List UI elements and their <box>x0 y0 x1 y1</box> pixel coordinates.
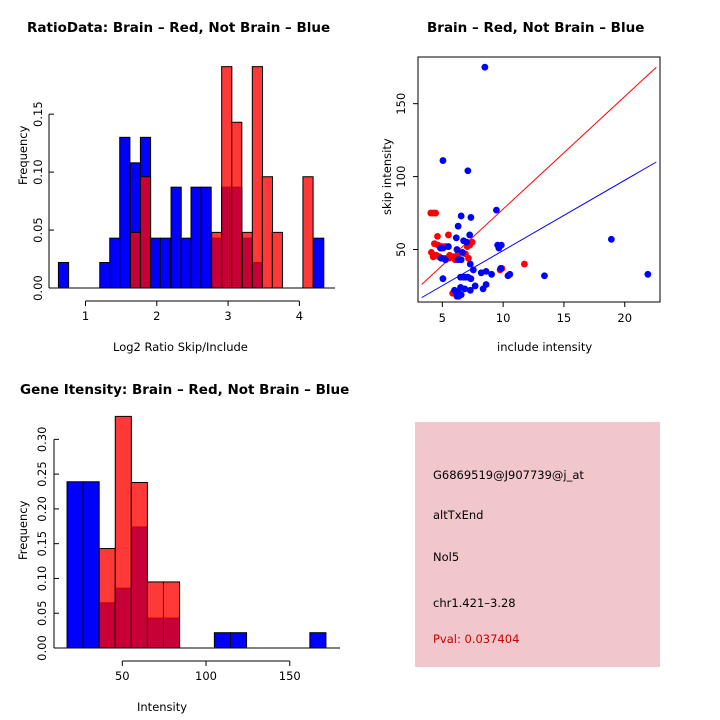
histogram-bar <box>67 482 83 648</box>
histogram-bar <box>120 137 130 288</box>
panel-gene-intensity-histogram: Gene Itensity: Brain – Red, Not Brain – … <box>0 360 360 720</box>
scatter-content <box>422 64 657 300</box>
probe-id-text: G6869519@J907739@j_at <box>433 468 584 482</box>
gene-y-tick-label: 0.30 <box>35 427 49 453</box>
ratio-y-tick-label: 0.10 <box>31 159 45 185</box>
ratio-y-tick-label: 0.00 <box>31 275 45 301</box>
scatter-x-tick-label: 5 <box>439 311 446 325</box>
histogram-bar <box>310 633 326 648</box>
scatter-point <box>467 214 474 221</box>
ratio-histogram-plot: 0.000.050.100.151234 <box>0 0 360 330</box>
histogram-bar <box>130 232 140 288</box>
histogram-bar <box>232 122 242 288</box>
gene-symbol-text: Nol5 <box>433 550 459 564</box>
histogram-bar <box>115 416 131 648</box>
histogram-bar <box>230 633 246 648</box>
gene-y-tick-label: 0.05 <box>35 600 49 626</box>
histogram-bar <box>140 177 150 288</box>
histogram-bar <box>131 482 147 648</box>
ratio-x-tick-label: 4 <box>296 309 303 323</box>
ratio-histogram-xlabel: Log2 Ratio Skip/Include <box>113 340 248 354</box>
histogram-bar <box>150 238 160 288</box>
event-type-text: altTxEnd <box>433 508 483 522</box>
scatter-point <box>472 283 479 290</box>
gene-y-tick-label: 0.20 <box>35 496 49 522</box>
scatter-point <box>470 267 477 274</box>
scatter-point <box>465 255 472 262</box>
scatter-point <box>432 210 439 217</box>
scatter-point <box>495 245 502 252</box>
scatter-point <box>440 275 447 282</box>
histogram-bar <box>303 177 313 288</box>
panel-ratio-histogram: RatioData: Brain – Red, Not Brain – Blue… <box>0 0 360 360</box>
scatter-point <box>521 261 528 268</box>
gene-y-tick-label: 0.00 <box>35 635 49 661</box>
scatter-point <box>541 272 548 279</box>
histogram-bar <box>99 549 115 648</box>
scatter-point <box>434 233 441 240</box>
histogram-bar <box>100 263 110 288</box>
scatter-point <box>445 232 452 239</box>
histogram-bar <box>110 238 120 288</box>
gene-histogram-xlabel: Intensity <box>137 700 187 714</box>
ratio-x-tick-label: 2 <box>153 309 160 323</box>
scatter-point <box>488 271 495 278</box>
ratio-y-tick-label: 0.15 <box>31 101 45 127</box>
gene-x-tick-label: 100 <box>195 669 217 683</box>
gene-histogram-plot: 0.000.050.100.150.200.250.3050100150 <box>0 360 360 690</box>
scatter-point <box>481 64 488 71</box>
regression-line <box>422 162 657 298</box>
histogram-bar <box>222 67 232 288</box>
ratio-x-tick-label: 1 <box>82 309 89 323</box>
histogram-bar <box>314 238 324 288</box>
panel-intensity-scatter: Brain – Red, Not Brain – Blue skip inten… <box>360 0 720 360</box>
histogram-bar <box>191 187 201 288</box>
scatter-point <box>464 167 471 174</box>
histogram-bar <box>58 263 68 288</box>
gene-y-tick-label: 0.15 <box>35 531 49 557</box>
scatter-point <box>506 271 513 278</box>
histogram-bar <box>160 238 170 288</box>
pvalue-text: Pval: 0.037404 <box>433 632 519 646</box>
scatter-y-tick-label: 100 <box>394 166 408 188</box>
gene-x-tick-label: 50 <box>115 669 130 683</box>
scatter-y-tick-label: 150 <box>394 93 408 115</box>
histogram-bar <box>181 238 191 288</box>
scatter-xlabel: include intensity <box>497 340 592 354</box>
gene-y-tick-label: 0.25 <box>35 461 49 487</box>
histogram-bar <box>171 187 181 288</box>
histogram-bar <box>272 232 282 288</box>
scatter-point <box>458 213 465 220</box>
scatter-point <box>608 236 615 243</box>
scatter-point <box>644 271 651 278</box>
histogram-bar <box>201 187 211 288</box>
histogram-bar <box>214 633 230 648</box>
scatter-point <box>466 232 473 239</box>
scatter-point <box>459 249 466 256</box>
scatter-point <box>497 265 504 272</box>
gene-y-tick-label: 0.10 <box>35 566 49 592</box>
scatter-point <box>467 261 474 268</box>
scatter-point <box>463 239 470 246</box>
histogram-bar <box>212 232 222 288</box>
scatter-x-tick-label: 20 <box>617 311 632 325</box>
scatter-point <box>458 256 465 263</box>
ratio-y-tick-label: 0.05 <box>31 217 45 243</box>
scatter-point <box>455 223 462 230</box>
scatter-plot: 501001505101520 <box>360 0 720 330</box>
histogram-bar <box>242 232 252 288</box>
panel-info: G6869519@J907739@j_at altTxEnd Nol5 chr1… <box>360 360 720 720</box>
scatter-x-tick-label: 15 <box>557 311 572 325</box>
histogram-bar <box>252 67 262 288</box>
gene-x-tick-label: 150 <box>279 669 301 683</box>
scatter-point <box>440 245 447 252</box>
scatter-point <box>442 256 449 263</box>
scatter-point <box>458 291 465 298</box>
scatter-point <box>467 275 474 282</box>
scatter-point <box>453 234 460 241</box>
histogram-bar <box>163 582 179 648</box>
scatter-x-tick-label: 10 <box>496 311 511 325</box>
scatter-frame <box>418 57 660 302</box>
histogram-bar <box>83 482 99 648</box>
scatter-point <box>493 207 500 214</box>
location-text: chr1.421–3.28 <box>433 596 516 610</box>
scatter-y-tick-label: 50 <box>394 242 408 257</box>
scatter-point <box>440 157 447 164</box>
histogram-bar <box>147 582 163 648</box>
ratio-x-tick-label: 3 <box>224 309 231 323</box>
scatter-point <box>483 281 490 288</box>
gene-info-box <box>415 422 660 667</box>
histogram-bar <box>262 177 272 288</box>
